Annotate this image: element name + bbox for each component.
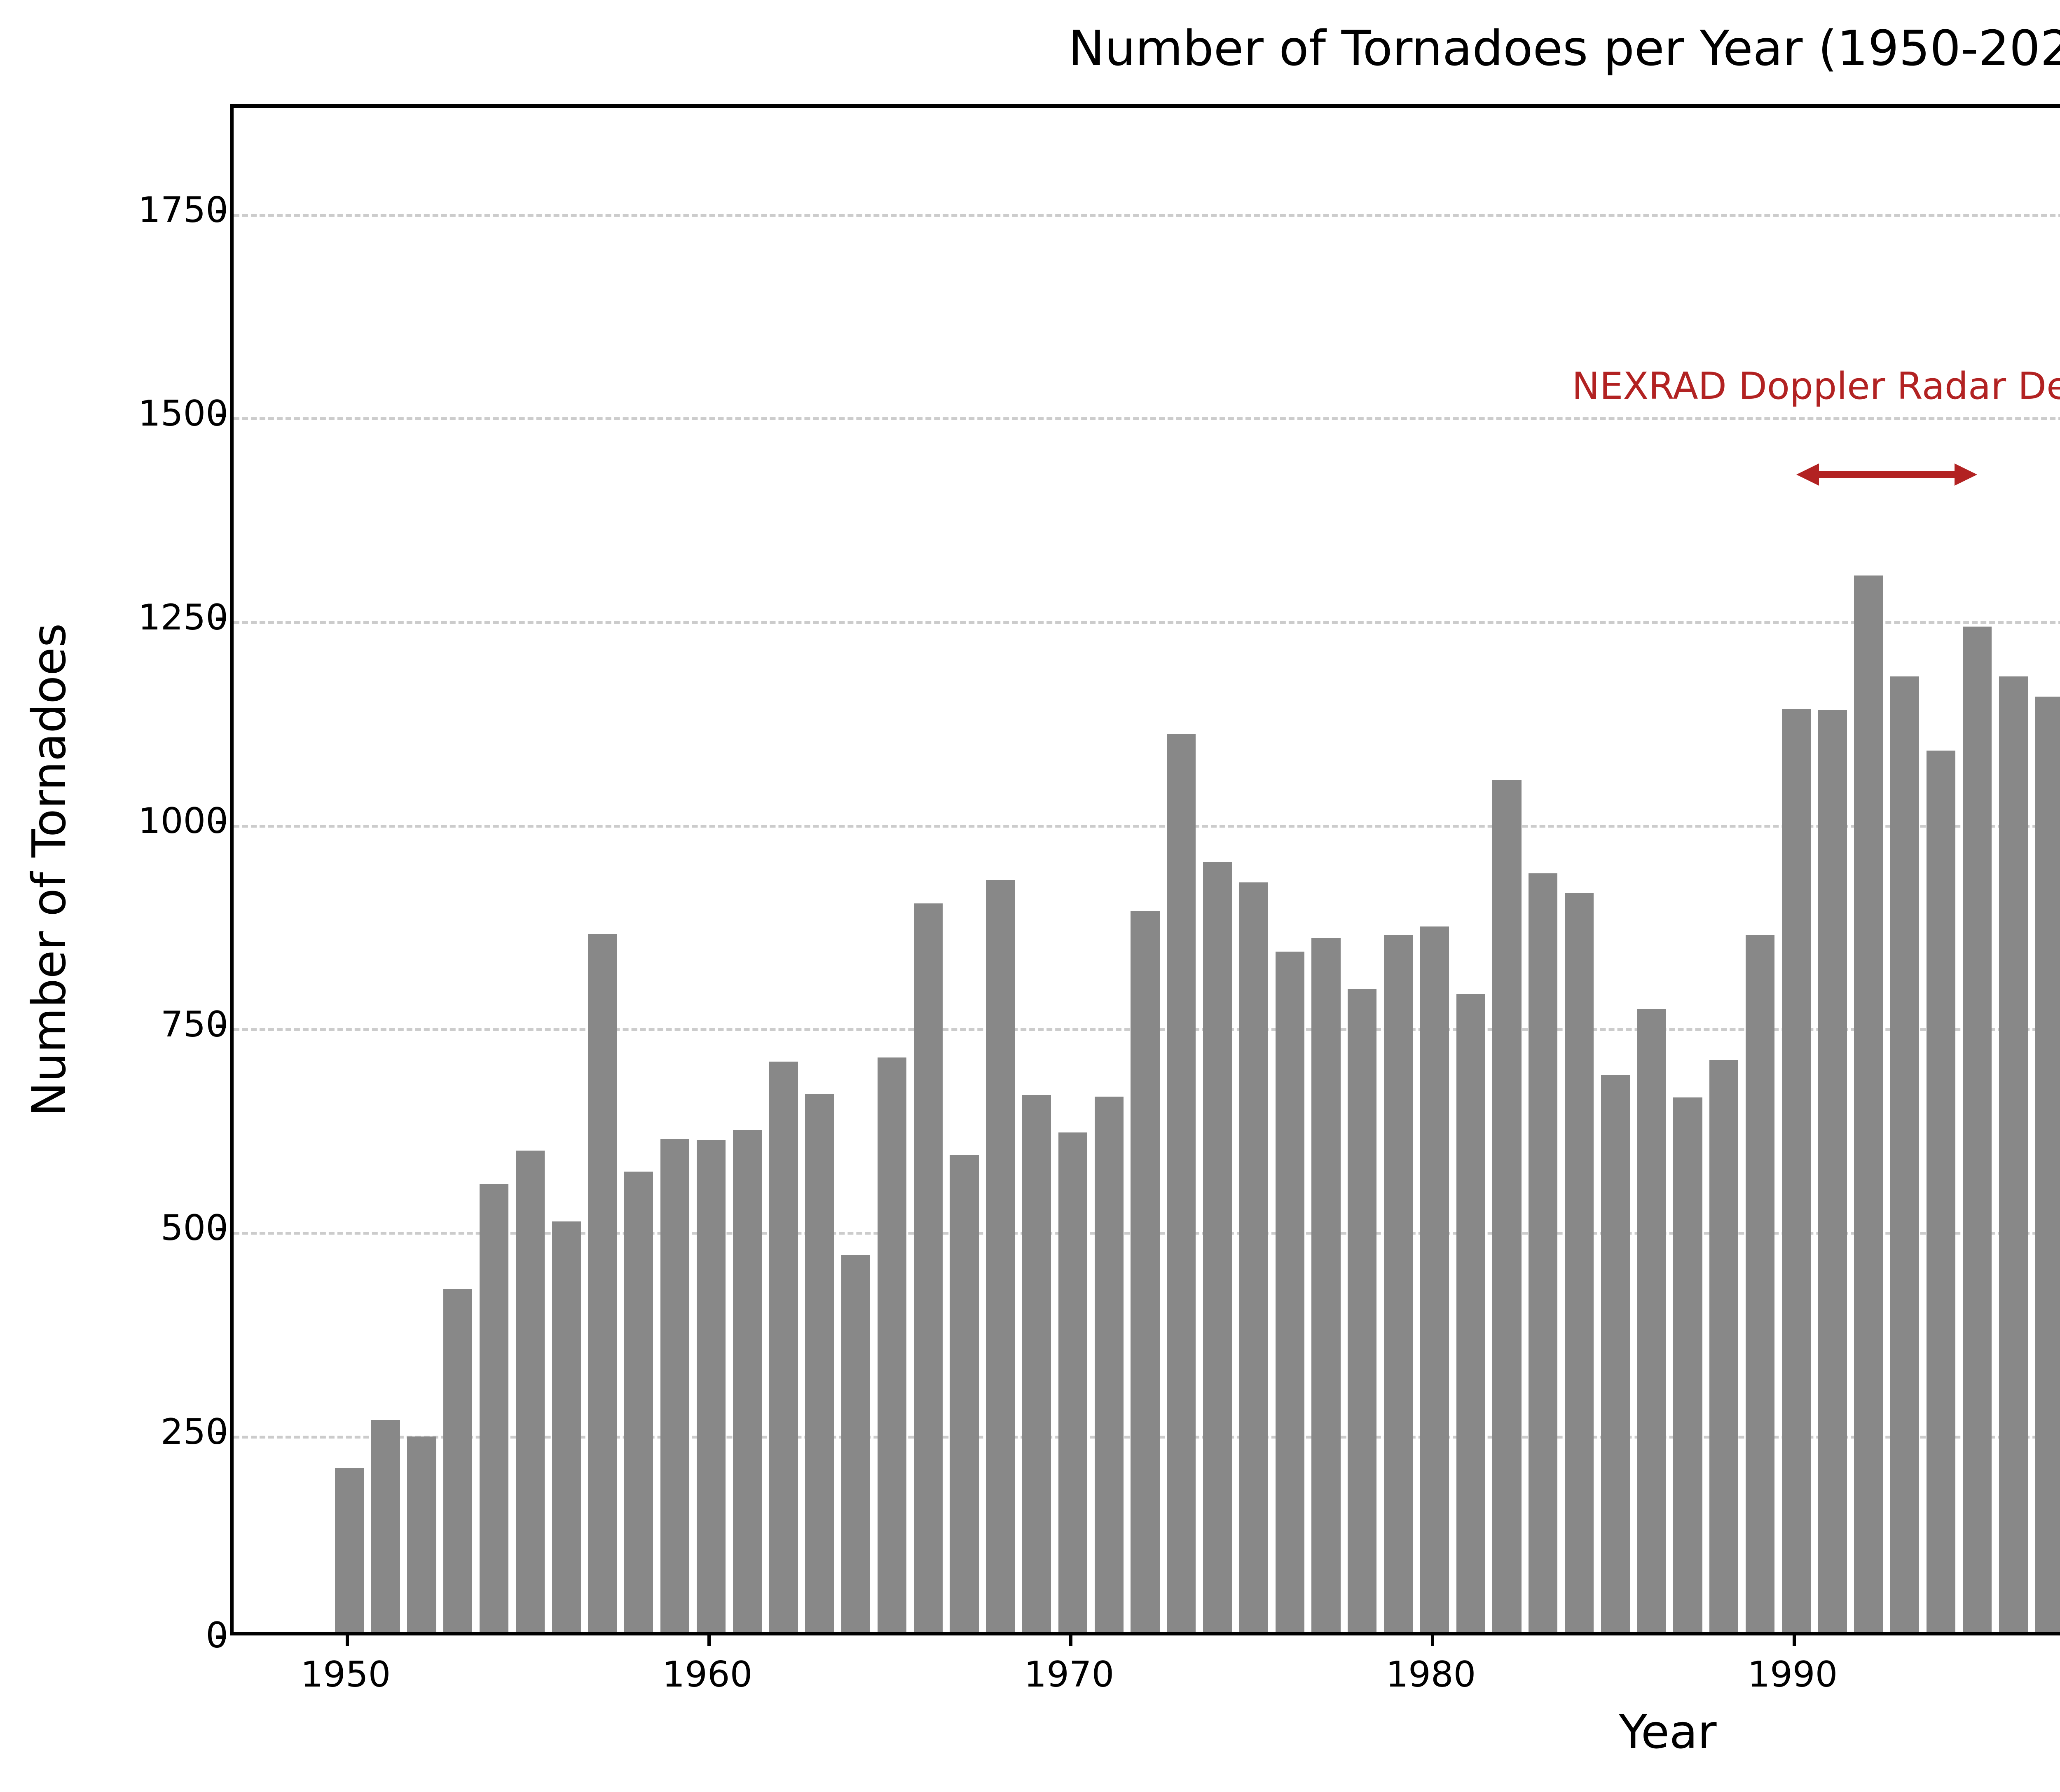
y-tick-label: 750 (161, 1004, 228, 1045)
bar[interactable] (1492, 780, 1521, 1632)
bar[interactable] (1709, 1060, 1738, 1632)
x-tick-label: 1960 (662, 1654, 753, 1695)
bar[interactable] (1239, 882, 1268, 1632)
y-tick-label: 1250 (138, 597, 228, 638)
y-tick-label: 1500 (138, 393, 228, 434)
y-axis-label: Number of Tornadoes (25, 104, 74, 1635)
bar[interactable] (1095, 1097, 1124, 1632)
bar[interactable] (878, 1057, 906, 1632)
y-tick-label: 0 (206, 1615, 228, 1656)
x-tick-label: 1970 (1024, 1654, 1114, 1695)
bar[interactable] (516, 1151, 545, 1632)
bar[interactable] (1818, 710, 1847, 1632)
bar[interactable] (805, 1094, 834, 1632)
bar[interactable] (1601, 1075, 1630, 1632)
x-tick-mark (1793, 1635, 1796, 1646)
bar[interactable] (1456, 994, 1485, 1632)
gridline (234, 621, 2060, 624)
x-tick-mark (707, 1635, 711, 1646)
bar[interactable] (1782, 709, 1811, 1632)
bar[interactable] (1348, 989, 1376, 1632)
bar[interactable] (1167, 734, 1196, 1632)
bar[interactable] (1999, 676, 2028, 1632)
x-tick-label: 1950 (301, 1654, 391, 1695)
bar[interactable] (1565, 893, 1594, 1632)
bar[interactable] (480, 1184, 508, 1632)
y-tick-label: 250 (161, 1411, 228, 1453)
bar[interactable] (1963, 627, 1992, 1632)
bar[interactable] (1311, 938, 1340, 1632)
x-tick-label: 1980 (1386, 1654, 1476, 1695)
bar[interactable] (950, 1155, 978, 1632)
bar[interactable] (2035, 697, 2060, 1632)
double-arrow-icon (1796, 460, 1977, 489)
plot-area (230, 104, 2060, 1635)
bar[interactable] (407, 1436, 436, 1632)
bar[interactable] (1529, 873, 1557, 1632)
page-title: Number of Tornadoes per Year (1950-2023) (0, 20, 2060, 77)
plot-inner (234, 108, 2060, 1632)
bar[interactable] (624, 1172, 653, 1632)
gridline (234, 214, 2060, 217)
bar[interactable] (588, 934, 617, 1632)
annotation-arrow-icon (1796, 460, 1977, 489)
bar[interactable] (1890, 676, 1919, 1632)
bar[interactable] (1927, 751, 1955, 1632)
bar[interactable] (1420, 926, 1449, 1632)
bar[interactable] (335, 1468, 364, 1632)
x-tick-mark (1069, 1635, 1072, 1646)
bar[interactable] (986, 880, 1015, 1632)
x-tick-mark (346, 1635, 349, 1646)
bar[interactable] (1276, 952, 1304, 1632)
bar[interactable] (1746, 935, 1774, 1632)
bar[interactable] (769, 1062, 798, 1632)
bar[interactable] (697, 1140, 726, 1632)
y-tick-label: 500 (161, 1207, 228, 1249)
bar[interactable] (1673, 1097, 1702, 1632)
bar[interactable] (841, 1255, 870, 1632)
x-axis-label: Year (230, 1705, 2060, 1759)
x-tick-mark (1431, 1635, 1434, 1646)
bar[interactable] (733, 1130, 762, 1632)
annotation-label: NEXRAD Doppler Radar Deployed (1572, 365, 2060, 408)
bar[interactable] (914, 903, 943, 1632)
bar[interactable] (1384, 935, 1413, 1632)
bar[interactable] (1058, 1132, 1087, 1632)
chart-page: Number of Tornadoes per Year (1950-2023)… (0, 0, 2060, 1792)
x-tick-label: 1990 (1747, 1654, 1838, 1695)
bar[interactable] (1022, 1095, 1051, 1632)
bar[interactable] (552, 1221, 581, 1632)
gridline (234, 417, 2060, 420)
y-tick-label: 1750 (138, 189, 228, 231)
bar[interactable] (1637, 1009, 1666, 1632)
bar[interactable] (660, 1139, 689, 1632)
bar[interactable] (1203, 862, 1232, 1632)
bar[interactable] (1854, 575, 1883, 1632)
y-tick-label: 1000 (138, 800, 228, 842)
bar[interactable] (1131, 911, 1159, 1632)
bar[interactable] (371, 1420, 400, 1632)
bar[interactable] (443, 1289, 472, 1632)
